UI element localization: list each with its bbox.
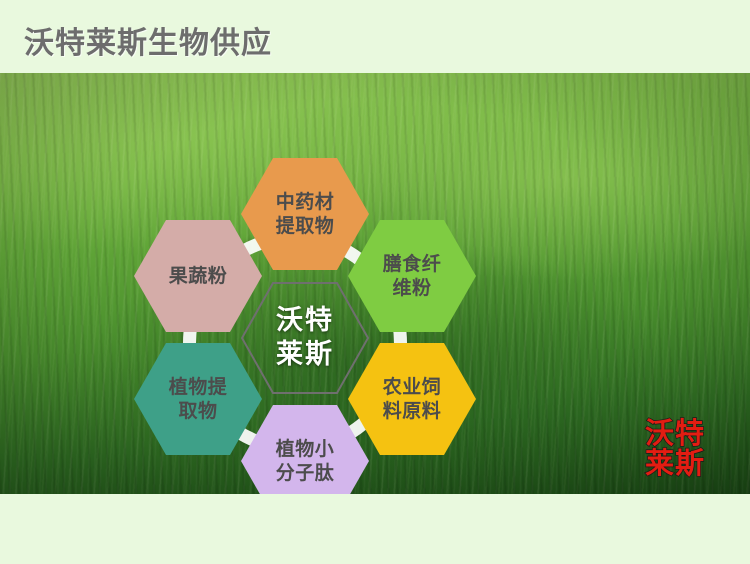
watermark-line1: 沃特 — [645, 418, 705, 448]
brand-watermark: 沃特 莱斯 — [645, 418, 705, 479]
center-label-line1: 沃特 — [276, 304, 334, 338]
watermark-line2: 莱斯 — [645, 448, 705, 478]
page-title: 沃特莱斯生物供应 — [24, 18, 272, 62]
hex-label-line1: 果蔬粉 — [154, 264, 242, 288]
hex-label-line2: 分子肽 — [261, 461, 349, 485]
hex-label-line1: 中药材 — [261, 190, 349, 214]
hex-label-line1: 植物提 — [154, 375, 242, 399]
hex-label-line1: 膳食纤 — [368, 252, 456, 276]
center-brand-label: 沃特 莱斯 — [241, 282, 369, 394]
footer-bar — [0, 494, 750, 564]
background-photo-rice-field: 中药材 提取物 膳食纤 维粉 农业饲 料原料 植物小 分子肽 — [0, 73, 750, 494]
hex-label-line2: 取物 — [154, 399, 242, 423]
slide-canvas: 沃特莱斯生物供应 中药材 提取物 膳食纤 维粉 — [0, 0, 750, 564]
hex-label-line1: 农业饲 — [368, 375, 456, 399]
hex-node-center-brand[interactable]: 沃特 莱斯 — [241, 282, 369, 394]
header-bar: 沃特莱斯生物供应 — [0, 0, 750, 73]
hex-label-line2: 维粉 — [368, 276, 456, 300]
hex-diagram: 中药材 提取物 膳食纤 维粉 农业饲 料原料 植物小 分子肽 — [120, 158, 490, 494]
center-label-line2: 莱斯 — [276, 338, 334, 372]
hex-label-line2: 提取物 — [261, 214, 349, 238]
hex-label-line1: 植物小 — [261, 437, 349, 461]
hex-label-line2: 料原料 — [368, 399, 456, 423]
